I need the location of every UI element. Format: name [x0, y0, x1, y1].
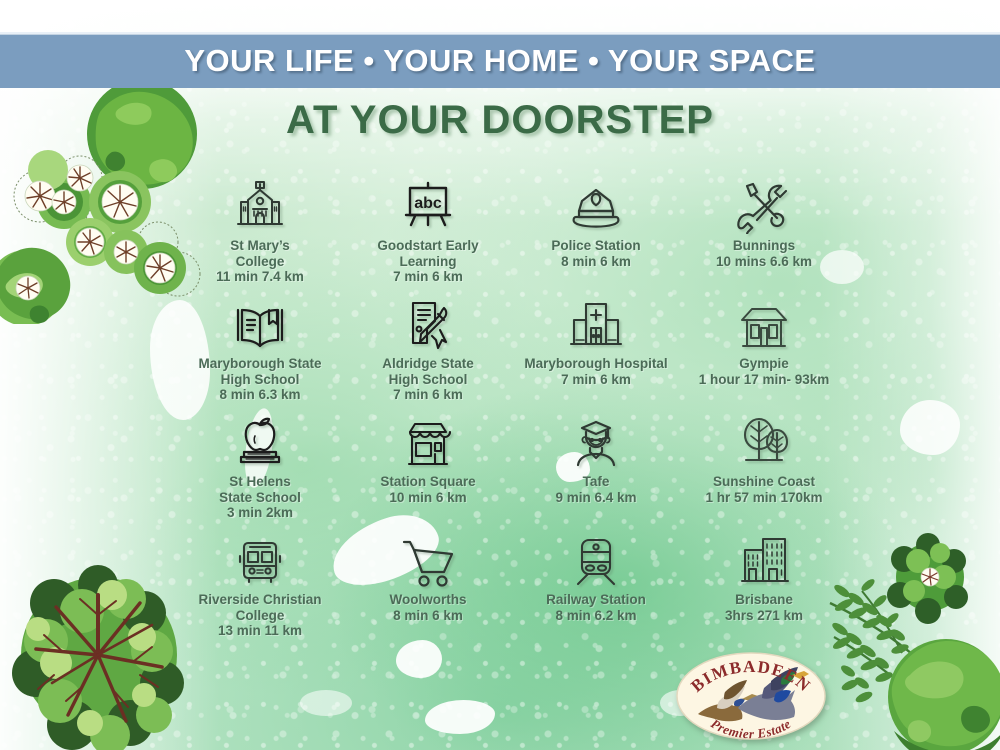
tagline-text: YOUR LIFE • YOUR HOME • YOUR SPACE	[184, 43, 815, 79]
amenity-distance: 3hrs 271 km	[676, 608, 852, 624]
abc-whiteboard-icon: abc	[395, 172, 461, 234]
white-blot	[425, 700, 495, 734]
amenity-distance: 10 min 6 km	[340, 490, 516, 506]
estate-logo[interactable]: BIMBADEEN Premier Estate	[672, 648, 830, 744]
plan-tree-bottomleft	[0, 555, 199, 750]
amenity-distance: 10 mins 6.6 km	[676, 254, 852, 270]
svg-text:abc: abc	[414, 195, 442, 212]
amenity-label: Riverside ChristianCollege	[160, 592, 360, 623]
amenity-gympie[interactable]: Gympie 1 hour 17 min- 93km	[680, 290, 848, 408]
amenity-label: Railway Station	[510, 592, 682, 608]
amenity-st-marys-college[interactable]: St Mary’sCollege 11 min 7.4 km	[176, 172, 344, 290]
amenity-distance: 9 min 6.4 km	[508, 490, 684, 506]
tree-branch-stars	[25, 165, 175, 283]
hospital-icon	[563, 290, 629, 352]
amenity-brisbane[interactable]: Brisbane 3hrs 271 km	[680, 526, 848, 644]
small-round-tree	[887, 533, 968, 624]
amenity-riverside-christian-college[interactable]: Riverside ChristianCollege 13 min 11 km	[176, 526, 344, 644]
amenity-maryborough-state-high-school[interactable]: Maryborough StateHigh School 8 min 6.3 k…	[176, 290, 344, 408]
amenity-label: St Mary’sCollege	[174, 238, 346, 269]
white-blot	[900, 400, 960, 455]
amenity-label: St HelensState School	[174, 474, 346, 505]
amenities-grid: St Mary’sCollege 11 min 7.4 km abc Goods…	[176, 172, 848, 644]
amenity-distance: 13 min 11 km	[160, 623, 360, 639]
apple-books-icon	[227, 408, 293, 470]
amenity-woolworths[interactable]: Woolworths 8 min 6 km	[344, 526, 512, 644]
amenity-goodstart-early-learning[interactable]: abc Goodstart EarlyLearning 7 min 6 km	[344, 172, 512, 290]
police-hat-icon	[563, 172, 629, 234]
amenity-distance: 7 min 6 km	[340, 387, 516, 403]
open-book-icon	[227, 290, 293, 352]
amenity-label: Tafe	[510, 474, 682, 490]
shrub-bottom-left	[0, 248, 70, 324]
amenity-bunnings[interactable]: Bunnings 10 mins 6.6 km	[680, 172, 848, 290]
amenity-distance: 8 min 6 km	[508, 254, 684, 270]
amenity-railway-station[interactable]: Railway Station 8 min 6.2 km	[512, 526, 680, 644]
train-icon	[563, 526, 629, 588]
amenity-distance: 3 min 2km	[172, 505, 348, 521]
white-blot	[300, 690, 352, 716]
poster-canvas: YOUR LIFE • YOUR HOME • YOUR SPACE AT YO…	[0, 0, 1000, 750]
amenity-aldridge-state-high-school[interactable]: Aldridge StateHigh School 7 min 6 km	[344, 290, 512, 408]
tools-wrench-screwdriver-icon	[731, 172, 797, 234]
graduate-student-icon	[563, 408, 629, 470]
amenity-distance: 1 hour 17 min- 93km	[664, 372, 864, 388]
amenity-label: Brisbane	[678, 592, 850, 608]
amenity-label: Station Square	[342, 474, 514, 490]
foliage-bottomright	[828, 525, 1000, 750]
shopfront-icon	[395, 408, 461, 470]
amenity-label: Maryborough StateHigh School	[160, 356, 360, 387]
city-buildings-icon	[731, 526, 797, 588]
amenity-label: Police Station	[510, 238, 682, 254]
page-title-text: AT YOUR DOORSTEP	[286, 98, 714, 142]
banner-highlight	[0, 32, 1000, 34]
amenity-st-helens-state-school[interactable]: St HelensState School 3 min 2km	[176, 408, 344, 526]
amenity-distance: 8 min 6.3 km	[160, 387, 360, 403]
page-title: AT YOUR DOORSTEP	[0, 98, 1000, 143]
white-blot	[396, 640, 442, 678]
amenity-station-square[interactable]: Station Square 10 min 6 km	[344, 408, 512, 526]
amenity-label: Aldridge StateHigh School	[342, 356, 514, 387]
school-bus-icon	[227, 526, 293, 588]
amenity-distance: 8 min 6.2 km	[508, 608, 684, 624]
shopping-cart-icon	[395, 526, 461, 588]
amenity-police-station[interactable]: Police Station 8 min 6 km	[512, 172, 680, 290]
diploma-scroll-icon	[395, 290, 461, 352]
canopy-green-discs	[28, 150, 186, 294]
amenity-distance: 1 hr 57 min 170km	[664, 490, 864, 506]
amenity-label: Goodstart EarlyLearning	[342, 238, 514, 269]
amenity-label: Sunshine Coast	[664, 474, 864, 490]
tree-branches	[36, 595, 162, 721]
amenity-label: Woolworths	[342, 592, 514, 608]
house-store-icon	[731, 290, 797, 352]
tree-canopy-blobs	[12, 565, 184, 750]
school-building-icon	[227, 172, 293, 234]
two-trees-icon	[731, 408, 797, 470]
large-round-bush	[888, 639, 1000, 750]
amenity-sunshine-coast[interactable]: Sunshine Coast 1 hr 57 min 170km	[680, 408, 848, 526]
amenity-label: Bunnings	[678, 238, 850, 254]
amenity-tafe[interactable]: Tafe 9 min 6.4 km	[512, 408, 680, 526]
amenity-label: Gympie	[664, 356, 864, 372]
tagline-banner: YOUR LIFE • YOUR HOME • YOUR SPACE	[0, 34, 1000, 88]
amenity-distance: 8 min 6 km	[340, 608, 516, 624]
amenity-distance: 11 min 7.4 km	[172, 269, 348, 285]
amenity-distance: 7 min 6 km	[340, 269, 516, 285]
amenity-maryborough-hospital[interactable]: Maryborough Hospital 7 min 6 km	[512, 290, 680, 408]
